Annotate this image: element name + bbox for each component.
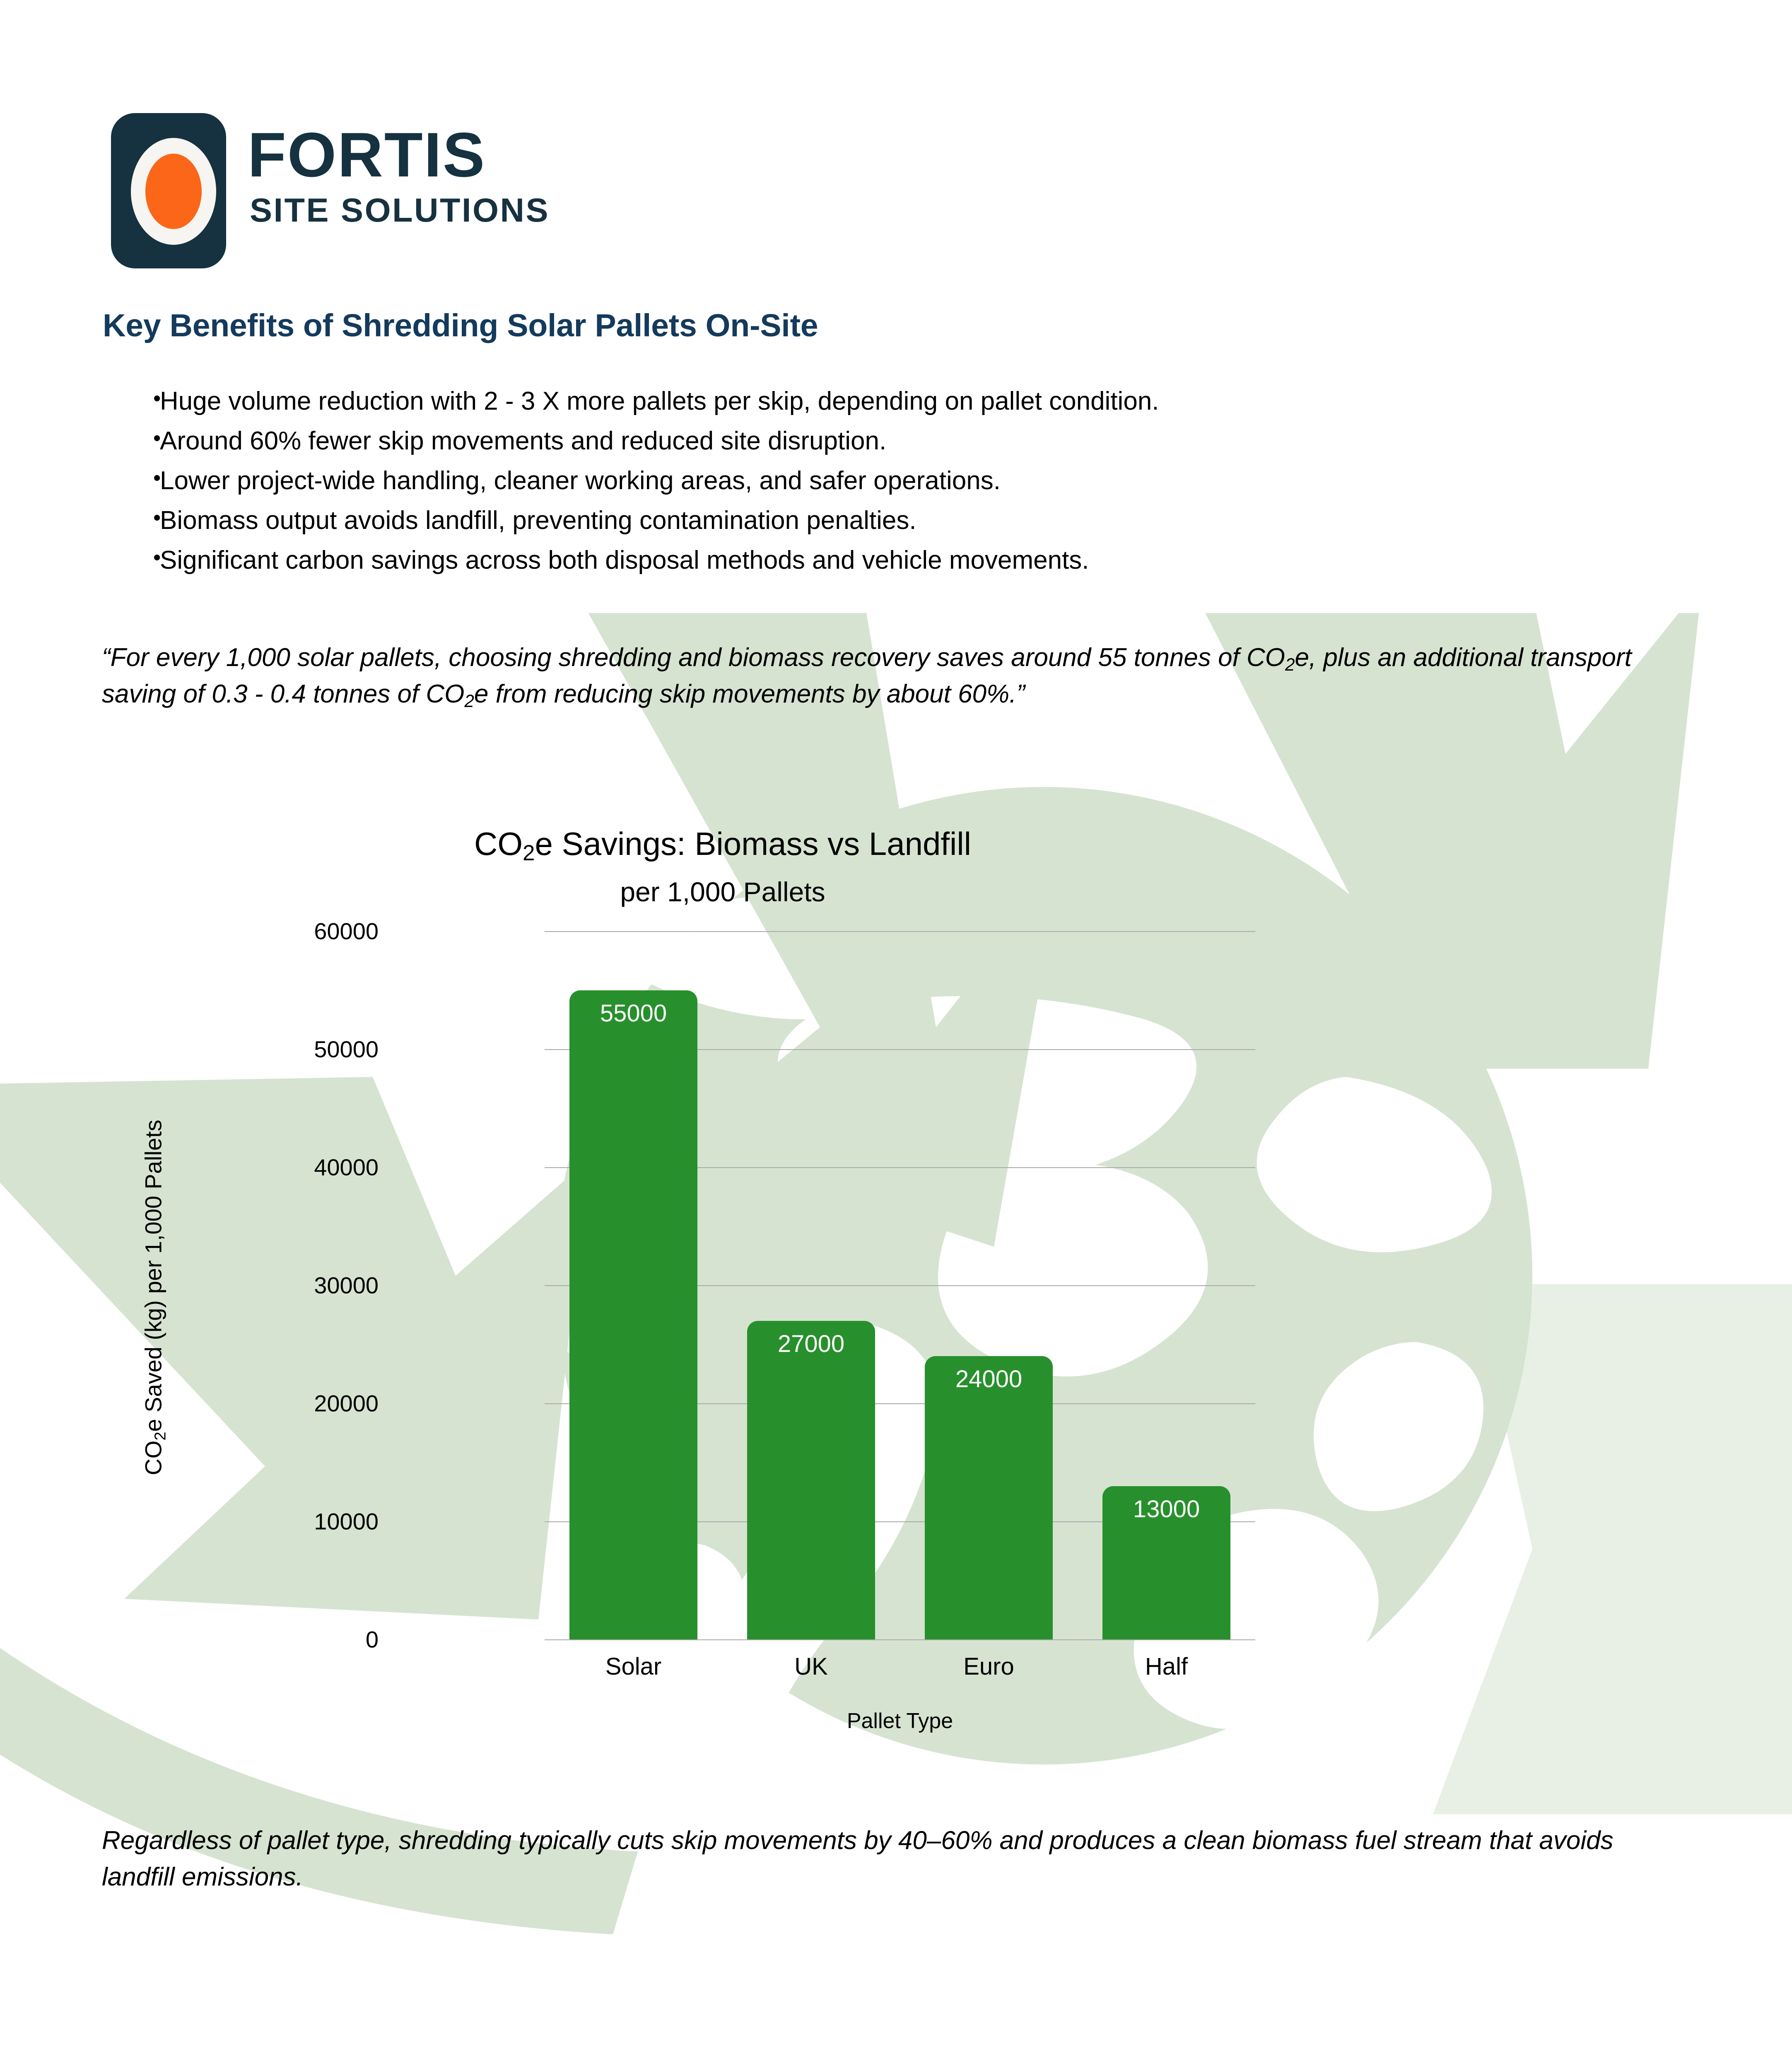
chart-y-tick-label: 50000: [205, 1036, 379, 1063]
list-item: • Biomass output avoids landfill, preven…: [103, 504, 1610, 544]
quote-line1-a: “For every 1,000 solar pallets, choosing…: [102, 643, 1285, 672]
closing-paragraph: Regardless of pallet type, shredding typ…: [102, 1822, 1659, 1895]
quote-subscript: 2: [1285, 655, 1295, 674]
chart-bar-value-label: 13000: [1102, 1495, 1230, 1523]
list-item: • Huge volume reduction with 2 - 3 X mor…: [103, 385, 1610, 425]
chart-plot-area: 55000270002400013000: [545, 931, 1255, 1639]
chart-title-b: e Savings: Biomass vs Landfill: [535, 826, 972, 862]
list-item: • Around 60% fewer skip movements and re…: [103, 425, 1610, 465]
bullet-marker-icon: •: [103, 385, 160, 412]
page-title: Key Benefits of Shredding Solar Pallets …: [103, 307, 818, 344]
chart-bar: 24000: [925, 1356, 1053, 1639]
chart-y-tick-label: 40000: [205, 1154, 379, 1181]
bullet-marker-icon: •: [103, 425, 160, 452]
list-item: • Lower project-wide handling, cleaner w…: [103, 465, 1610, 504]
list-item-text: Significant carbon savings across both d…: [160, 544, 1089, 577]
chart-y-tick-label: 60000: [205, 918, 379, 945]
logo-mark-icon: [111, 113, 226, 268]
bullet-marker-icon: •: [103, 544, 160, 571]
chart-y-axis-label: CO2e Saved (kg) per 1,000 Pallets: [140, 1008, 167, 1588]
benefits-list: • Huge volume reduction with 2 - 3 X mor…: [103, 385, 1610, 584]
quote-subscript: 2: [464, 691, 474, 711]
quote-line1-b: e,: [1295, 643, 1316, 672]
bullet-marker-icon: •: [103, 504, 160, 531]
logo-wordmark: FORTIS: [248, 123, 486, 186]
list-item-text: Around 60% fewer skip movements and redu…: [160, 425, 886, 457]
chart-subtitle: per 1,000 Pallets: [99, 876, 1346, 908]
company-logo: FORTIS SITE SOLUTIONS: [111, 111, 591, 273]
chart-title-subscript: 2: [523, 841, 535, 865]
chart-bar: 13000: [1102, 1486, 1230, 1640]
list-item-text: Lower project-wide handling, cleaner wor…: [160, 465, 1001, 497]
bullet-marker-icon: •: [103, 465, 160, 492]
chart-bar: 27000: [747, 1321, 875, 1640]
list-item-text: Biomass output avoids landfill, preventi…: [160, 504, 917, 537]
logo-tagline: SITE SOLUTIONS: [250, 194, 550, 227]
chart-y-tick-label: 20000: [205, 1390, 379, 1417]
chart-bar-value-label: 55000: [569, 999, 697, 1027]
chart-x-axis-label: Pallet Type: [545, 1709, 1255, 1733]
list-item: • Significant carbon savings across both…: [103, 544, 1610, 584]
y-label-a: CO: [140, 1441, 166, 1475]
co2e-savings-bar-chart: CO2e Savings: Biomass vs Landfill per 1,…: [99, 812, 1673, 1789]
y-label-subscript: 2: [152, 1432, 169, 1441]
document-page: FORTIS SITE SOLUTIONS Key Benefits of Sh…: [0, 0, 1792, 2071]
chart-bar-value-label: 27000: [747, 1330, 875, 1358]
chart-title-a: CO: [474, 826, 523, 862]
chart-title: CO2e Savings: Biomass vs Landfill: [99, 825, 1346, 863]
chart-gridline: [545, 1639, 1255, 1640]
chart-bar: 55000: [569, 990, 697, 1640]
chart-x-tick-label: UK: [722, 1653, 900, 1680]
chart-x-tick-label: Solar: [545, 1653, 722, 1680]
logo-dot-icon: [145, 154, 202, 229]
quote-line2-b: e from reducing skip movements by about …: [474, 680, 1025, 708]
chart-bar-value-label: 24000: [925, 1365, 1053, 1393]
chart-y-tick-label: 30000: [205, 1272, 379, 1299]
chart-y-tick-label: 0: [205, 1626, 379, 1653]
chart-x-tick-label: Euro: [900, 1653, 1078, 1680]
pull-quote: “For every 1,000 solar pallets, choosing…: [102, 640, 1642, 712]
y-label-b: e Saved (kg) per 1,000 Pallets: [140, 1120, 166, 1431]
chart-y-tick-label: 10000: [205, 1508, 379, 1535]
chart-x-tick-label: Half: [1078, 1653, 1255, 1680]
list-item-text: Huge volume reduction with 2 - 3 X more …: [160, 385, 1159, 418]
